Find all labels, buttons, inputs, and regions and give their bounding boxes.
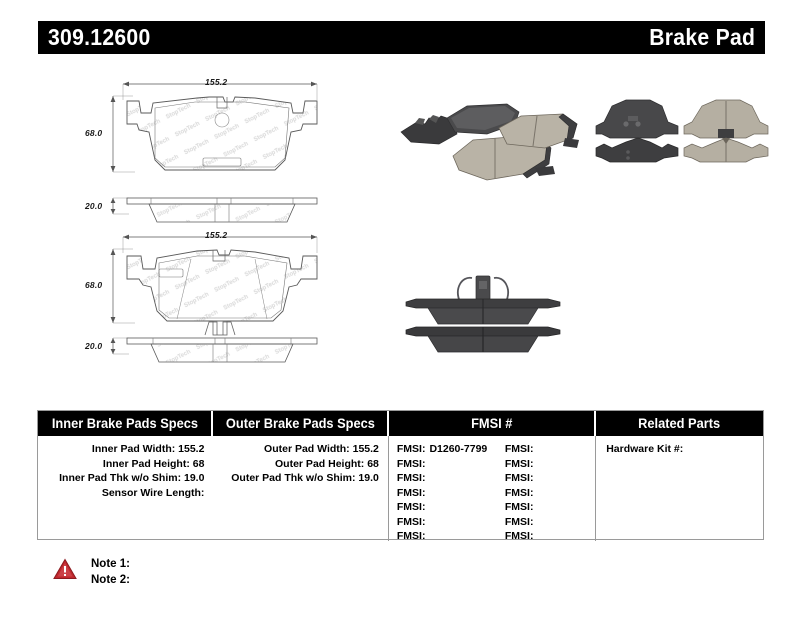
fmsi-label: FMSI: [397, 516, 426, 528]
drawing-area: StopTech 155.2 68.0 [0, 60, 800, 390]
outer-pad-side-svg: StopTech [105, 318, 335, 368]
inner-pad-side-view: StopTech 20.0 [105, 188, 335, 230]
inner-spec-row: Inner Pad Thk w/o Shim: 19.0 [38, 471, 213, 486]
fmsi-label: FMSI: [505, 516, 534, 528]
fmsi-row: FMSI: [397, 457, 505, 472]
note-item: Note 1: [91, 556, 130, 572]
inner-spec-row: Inner Pad Height: 68 [38, 457, 213, 472]
outer-width-dimension: 155.2 [205, 230, 227, 240]
fmsi-label: FMSI: [397, 501, 426, 513]
fmsi-row: FMSI: [397, 529, 505, 544]
fmsi-value: D1260-7799 [429, 443, 487, 455]
product-photo-flat-set [592, 92, 772, 188]
fmsi-label: FMSI: [505, 443, 534, 455]
fmsi-label: FMSI: [397, 487, 426, 499]
title-bar: 309.12600 Brake Pad [38, 21, 765, 54]
outer-height-dimension: 68.0 [85, 280, 102, 290]
header-inner-specs: Inner Brake Pads Specs [38, 411, 213, 436]
fmsi-label: FMSI: [505, 472, 534, 484]
outer-thickness-dimension: 20.0 [85, 341, 102, 351]
fmsi-row: FMSI: [397, 515, 505, 530]
inner-pad-side-svg: StopTech [105, 188, 335, 230]
product-photo-angled [395, 90, 580, 190]
spec-table-body-row: Inner Pad Width: 155.2 Inner Pad Height:… [38, 436, 763, 541]
spec-table-header-row: Inner Brake Pads Specs Outer Brake Pads … [38, 411, 763, 436]
edge-pair-svg [388, 268, 578, 356]
header-outer-specs: Outer Brake Pads Specs [213, 411, 388, 436]
inner-thickness-dimension: 20.0 [85, 201, 102, 211]
cell-related-parts: Hardware Kit #: [596, 436, 763, 541]
fmsi-row: FMSI:D1260-7799 [397, 442, 505, 457]
product-photo-edge-pair [388, 268, 578, 356]
part-number: 309.12600 [48, 24, 151, 51]
inner-spec-row: Sensor Wire Length: [38, 486, 213, 501]
notes-section: Note 1: Note 2: [53, 556, 130, 588]
outer-pad-side-view: StopTech 20.0 [105, 318, 335, 368]
outer-spec-row: Outer Pad Thk w/o Shim: 19.0 [213, 471, 387, 486]
fmsi-row: FMSI: [397, 471, 505, 486]
fmsi-label: FMSI: [505, 458, 534, 470]
angled-pads-svg [395, 90, 580, 190]
fmsi-label: FMSI: [397, 443, 426, 455]
fmsi-label: FMSI: [397, 530, 426, 542]
inner-height-dimension: 68.0 [85, 128, 102, 138]
flat-pads-svg [592, 92, 772, 188]
fmsi-label: FMSI: [397, 458, 426, 470]
inner-spec-row: Inner Pad Width: 155.2 [38, 442, 213, 457]
outer-spec-row: Outer Pad Width: 155.2 [213, 442, 387, 457]
cell-fmsi: FMSI:D1260-7799 FMSI: FMSI: FMSI: FMSI: … [389, 436, 596, 541]
fmsi-row: FMSI: [397, 500, 505, 515]
fmsi-label: FMSI: [505, 530, 534, 542]
warning-triangle-icon [53, 558, 77, 580]
fmsi-label: FMSI: [397, 472, 426, 484]
related-part-row: Hardware Kit #: [596, 442, 763, 457]
note-item: Note 2: [91, 572, 130, 588]
outer-spec-row: Outer Pad Height: 68 [213, 457, 387, 472]
header-related-parts: Related Parts [596, 411, 763, 436]
spec-table: Inner Brake Pads Specs Outer Brake Pads … [37, 410, 764, 540]
fmsi-column-left: FMSI:D1260-7799 FMSI: FMSI: FMSI: FMSI: … [397, 442, 505, 544]
fmsi-label: FMSI: [505, 487, 534, 499]
fmsi-label: FMSI: [505, 501, 534, 513]
header-fmsi: FMSI # [389, 411, 596, 436]
product-type: Brake Pad [649, 24, 755, 51]
cell-outer-specs: Outer Pad Width: 155.2 Outer Pad Height:… [213, 436, 388, 541]
cell-inner-specs: Inner Pad Width: 155.2 Inner Pad Height:… [38, 436, 213, 541]
fmsi-row: FMSI: [397, 486, 505, 501]
inner-width-dimension: 155.2 [205, 77, 227, 87]
note-list: Note 1: Note 2: [91, 556, 130, 588]
